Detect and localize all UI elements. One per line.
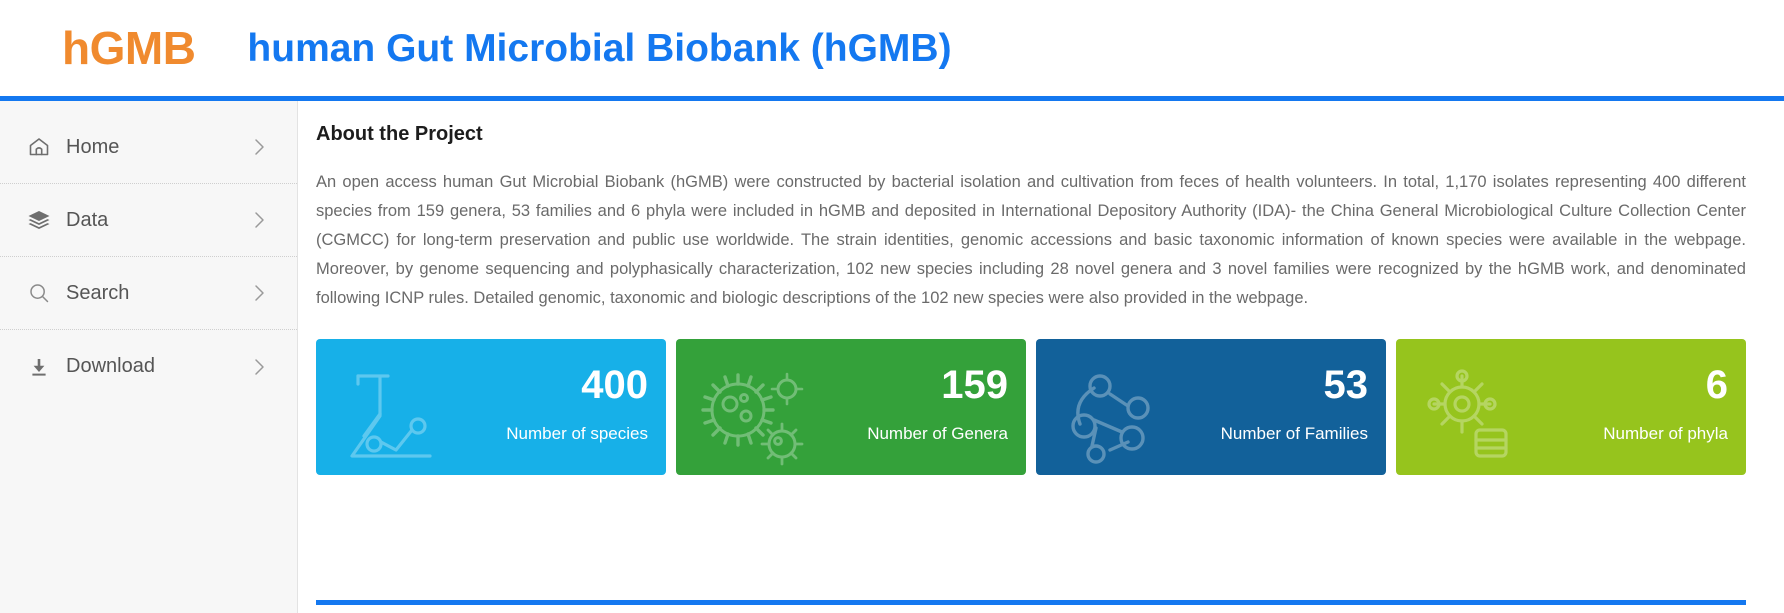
brand-logo[interactable]: hGMB [62,25,195,71]
chevron-right-icon [251,355,267,379]
sidebar-item-label: Home [66,136,119,159]
stat-label: Number of Families [1221,424,1368,444]
stat-value: 6 [1706,365,1728,405]
stat-label: Number of species [506,424,648,444]
network-icon [1050,358,1200,475]
page-title: About the Project [316,123,1754,146]
stat-card-phyla[interactable]: 6 Number of phyla [1396,339,1746,475]
molecule-cell-icon [1410,358,1560,475]
sidebar-item-label: Search [66,282,129,305]
sidebar: Home Data [0,101,298,613]
sidebar-item-home[interactable]: Home [0,111,297,184]
stat-card-genera[interactable]: 159 Number of Genera [676,339,1026,475]
stats-row: 400 Number of species [316,339,1746,475]
stat-card-families[interactable]: 53 Number of Families [1036,339,1386,475]
body-wrap: Home Data [0,101,1784,613]
flask-chart-icon [330,358,480,475]
stat-label: Number of phyla [1603,424,1728,444]
stat-card-species[interactable]: 400 Number of species [316,339,666,475]
page-root: hGMB human Gut Microbial Biobank (hGMB) … [0,0,1784,613]
site-header: hGMB human Gut Microbial Biobank (hGMB) [0,0,1784,96]
stat-value: 400 [581,365,648,405]
chevron-right-icon [251,135,267,159]
main-content: About the Project An open access human G… [298,101,1784,613]
chevron-right-icon [251,208,267,232]
virus-icon [690,358,840,475]
footer-divider [316,600,1746,605]
sidebar-item-data[interactable]: Data [0,184,297,257]
stat-label: Number of Genera [867,424,1008,444]
stat-value: 53 [1324,365,1369,405]
search-icon [26,280,52,306]
stat-value: 159 [941,365,1008,405]
sidebar-item-label: Download [66,355,155,378]
chevron-right-icon [251,281,267,305]
home-icon [26,134,52,160]
layers-icon [26,207,52,233]
site-title: human Gut Microbial Biobank (hGMB) [247,29,951,68]
sidebar-item-search[interactable]: Search [0,257,297,330]
sidebar-item-label: Data [66,209,108,232]
sidebar-item-download[interactable]: Download [0,330,297,403]
download-icon [26,354,52,380]
about-paragraph: An open access human Gut Microbial Bioba… [316,168,1746,313]
